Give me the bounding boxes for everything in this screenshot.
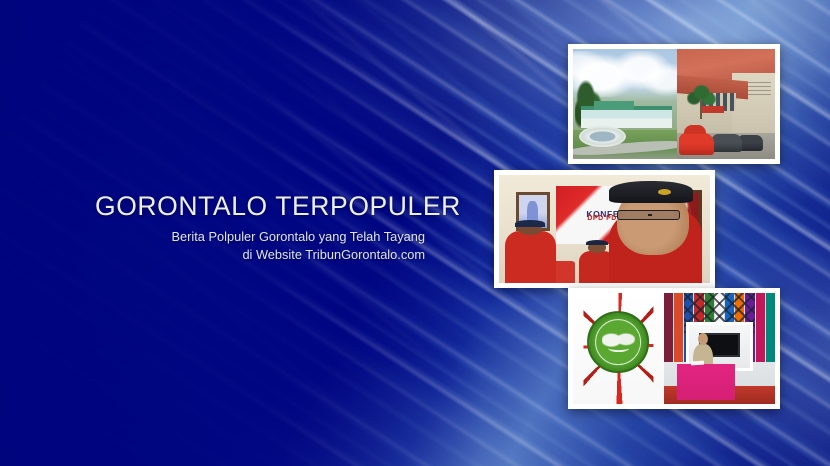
- magenta-table: [677, 364, 735, 400]
- green-seal-icon: [588, 311, 650, 373]
- subtitle: Berita Polpuler Gorontalo yang Telah Tay…: [95, 228, 425, 264]
- banner-teal: [766, 293, 775, 362]
- palm-tree: [687, 82, 716, 119]
- green-roof-building: [581, 106, 671, 128]
- subtitle-line-1: Berita Polpuler Gorontalo yang Telah Tay…: [95, 228, 425, 246]
- suv-near: [712, 134, 741, 153]
- regional-seal-panel: [573, 293, 664, 404]
- photo-buildings-image: [573, 49, 775, 159]
- fountain: [579, 126, 625, 147]
- photo-card-logo-stage[interactable]: [568, 288, 780, 409]
- banner-orange: [674, 293, 683, 362]
- photo-card-interview[interactable]: KONFE DPD PDI: [494, 170, 715, 288]
- photo-green-roof-building: [573, 49, 678, 159]
- title-block: GORONTALO TERPOPULER Berita Polpuler Gor…: [95, 193, 425, 264]
- slide-canvas: GORONTALO TERPOPULER Berita Polpuler Gor…: [0, 0, 830, 466]
- subtitle-line-2: di Website TribunGorontalo.com: [95, 246, 425, 264]
- banner-maroon: [664, 293, 673, 362]
- red-car: [679, 133, 714, 155]
- documents: [691, 361, 704, 366]
- photo-logo-stage-image: [573, 293, 775, 404]
- photo-interview-image: KONFE DPD PDI: [499, 175, 710, 283]
- banner-magenta: [756, 293, 765, 362]
- page-title: GORONTALO TERPOPULER: [95, 193, 425, 221]
- party-member-left: [505, 231, 556, 283]
- peci-cap: [609, 181, 693, 203]
- glasses: [617, 210, 680, 221]
- seal-emblem: [602, 333, 634, 353]
- photo-terracotta-building: [677, 49, 775, 159]
- photo-card-buildings[interactable]: [568, 44, 780, 164]
- stage-panel: [664, 293, 775, 404]
